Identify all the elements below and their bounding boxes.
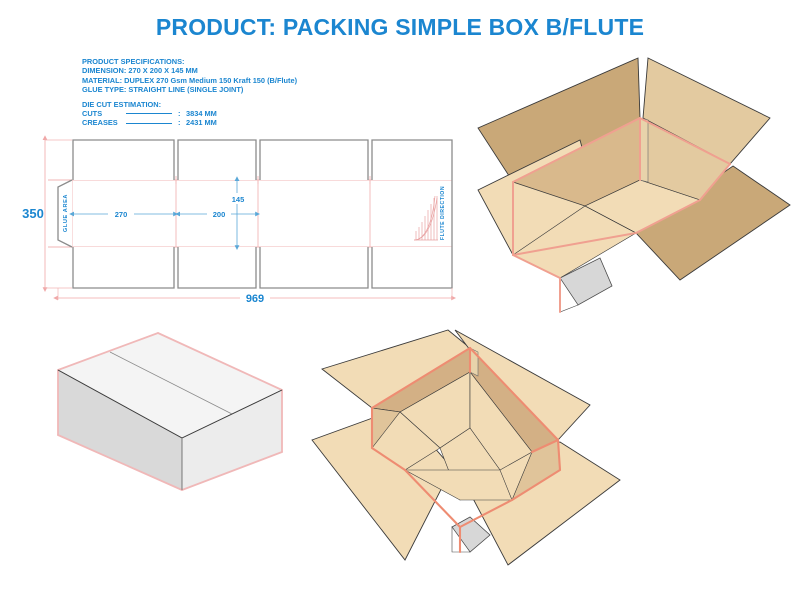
dimension-width-969: 969 [58, 288, 452, 305]
open-box-top-down-view [312, 330, 620, 565]
dimension-height-value: 350 [22, 206, 44, 221]
dimension-panel-200: 200 [180, 208, 256, 219]
packaging-spec-sheet: PRODUCT: PACKING SIMPLE BOX B/FLUTE PROD… [0, 0, 800, 600]
open-box-3d-view [478, 58, 790, 312]
drawing-canvas: GLUE AREA FLUTE DIRECTION [0, 0, 800, 600]
closed-box-3d-view [58, 333, 282, 490]
glue-area-label: GLUE AREA [63, 194, 69, 232]
dimension-flap-value: 145 [232, 195, 245, 204]
dimension-panel-270: 270 [74, 208, 174, 219]
flute-direction-symbol [414, 196, 438, 240]
flat-dieline-drawing: GLUE AREA FLUTE DIRECTION [22, 140, 452, 305]
flute-direction-label: FLUTE DIRECTION [440, 186, 446, 240]
dimension-width-value: 969 [246, 293, 264, 305]
dimension-panel-a-value: 270 [115, 210, 128, 219]
dimension-panel-b-value: 200 [213, 210, 226, 219]
